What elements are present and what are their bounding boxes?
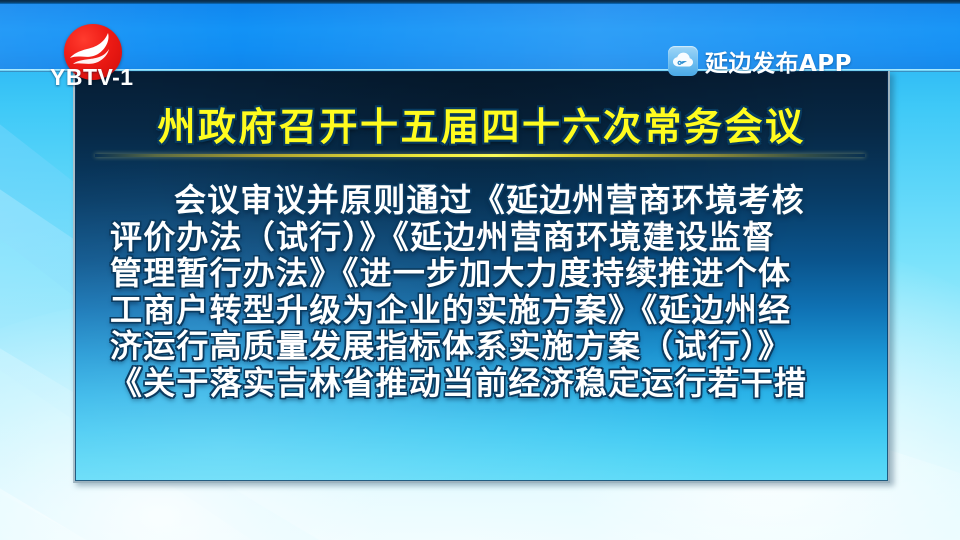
app-watermark: 延边发布APP (668, 44, 852, 78)
title-divider (95, 154, 865, 157)
body-line: 评价办法（试行）》《延边州营商环境建设监督 (110, 219, 855, 256)
body-line: 工商户转型升级为企业的实施方案》《延边州经 (110, 292, 855, 329)
body-line: 管理暂行办法》《进一步加大力度持续推进个体 (110, 255, 855, 292)
broadcast-frame: 州政府召开十五届四十六次常务会议 会议审议并原则通过《延边州营商环境考核 评价办… (0, 0, 960, 540)
channel-logo: YBTV-1 (50, 24, 170, 90)
news-body-text: 会议审议并原则通过《延边州营商环境考核 评价办法（试行）》《延边州营商环境建设监… (110, 182, 855, 401)
app-watermark-label: 延边发布APP (705, 44, 852, 78)
body-line: 《关于落实吉林省推动当前经济稳定运行若干措 (110, 365, 855, 402)
page-title: 州政府召开十五届四十六次常务会议 (73, 96, 890, 151)
body-line: 会议审议并原则通过《延边州营商环境考核 (110, 182, 855, 219)
body-line: 济运行高质量发展指标体系实施方案（试行）》 (110, 328, 855, 365)
channel-callsign: YBTV-1 (50, 64, 170, 91)
cloud-icon (668, 46, 698, 76)
